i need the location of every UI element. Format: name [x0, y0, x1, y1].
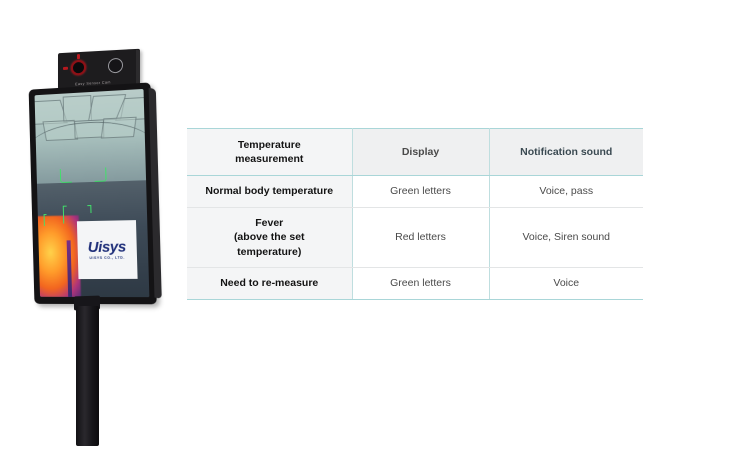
column-header-display: Display — [352, 129, 489, 176]
cell-display: Red letters — [352, 207, 489, 267]
mounting-pole — [76, 306, 99, 446]
table-row: Need to re-measure Green letters Voice — [187, 268, 643, 299]
device-screen[interactable]: Uisys UISYS CO., LTD. — [35, 89, 150, 297]
status-led-icon — [77, 54, 80, 59]
cell-display: Green letters — [352, 176, 489, 207]
screen-scene-sky — [35, 89, 147, 192]
status-led-secondary-icon — [63, 67, 68, 70]
infrared-sensor-icon — [71, 60, 86, 76]
cell-condition: Fever (above the set temperature) — [187, 207, 352, 267]
thermal-heatmap-overlay — [35, 215, 81, 297]
table-row: Normal body temperature Green letters Vo… — [187, 176, 643, 207]
tablet-side-bezel — [149, 88, 162, 299]
cell-condition: Normal body temperature — [187, 176, 352, 207]
temperature-response-table: Temperature measurement Display Notifica… — [187, 128, 643, 300]
cell-sound: Voice, pass — [489, 176, 643, 207]
face-detect-bracket-left-icon — [60, 169, 72, 184]
cell-sound: Voice — [489, 268, 643, 299]
tablet-housing: Uisys UISYS CO., LTD. — [29, 82, 157, 304]
cell-display: Green letters — [352, 268, 489, 299]
camera-lens-icon — [108, 58, 123, 74]
detect-marker-tertiary-icon — [43, 214, 47, 226]
brand-logo-subtitle: UISYS CO., LTD. — [89, 256, 125, 260]
brand-logo-mark: Uisys — [88, 239, 126, 255]
face-detect-bracket-right-icon — [95, 167, 107, 182]
cell-condition: Need to re-measure — [187, 268, 352, 299]
detect-marker-icon — [63, 205, 67, 223]
detect-marker-secondary-icon — [87, 205, 92, 213]
column-header-notification-sound: Notification sound — [489, 129, 643, 176]
brand-logo-plate: Uisys UISYS CO., LTD. — [77, 220, 138, 278]
slide-canvas: Easy Sensor Cam — [0, 0, 750, 450]
cell-sound: Voice, Siren sound — [489, 207, 643, 267]
column-header-temperature-measurement: Temperature measurement — [187, 129, 352, 176]
table-header-row: Temperature measurement Display Notifica… — [187, 129, 643, 176]
device-illustration: Easy Sensor Cam — [22, 38, 182, 438]
table-row: Fever (above the set temperature) Red le… — [187, 207, 643, 267]
